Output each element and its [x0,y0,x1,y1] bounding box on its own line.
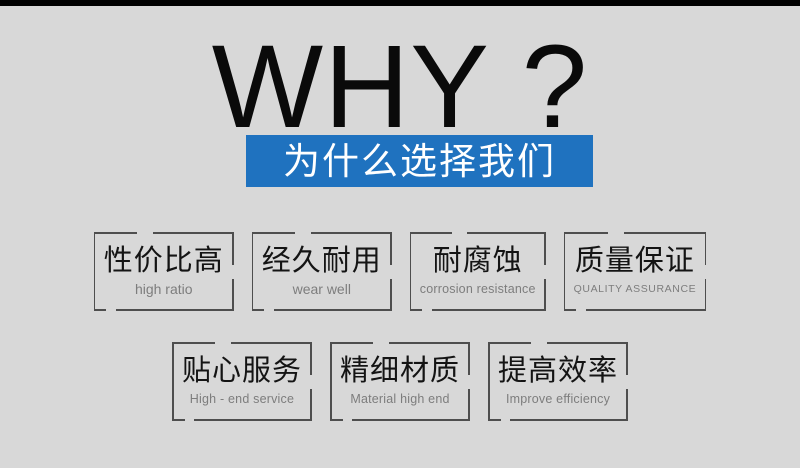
bracket-bottom-segment-b [194,419,312,421]
bracket-right-segment-b [705,279,707,311]
feature-title-cn: 性价比高 [104,244,224,277]
bracket-bottom-segment-a [488,419,501,421]
bracket-top-segment-b [389,342,470,344]
bracket-bottom-segment-b [352,419,470,421]
feature-card: 耐腐蚀 corrosion resistance [410,232,546,311]
feature-card: 经久耐用 wear well [252,232,392,311]
bracket-right-segment-a [705,232,707,265]
feature-title-cn: 贴心服务 [182,354,302,387]
bracket-top-segment-a [564,232,608,234]
bracket-left-segment [488,342,490,421]
bracket-right-segment-a [310,342,312,375]
bracket-left-segment [94,232,96,311]
feature-card: 贴心服务 High - end service [172,342,312,421]
bracket-bottom-segment-a [410,309,422,311]
bracket-bottom-segment-a [252,309,265,311]
bracket-right-segment-a [232,232,234,265]
bracket-right-segment-b [232,279,234,311]
subtitle-banner: 为什么选择我们 [246,135,593,187]
bracket-top-segment-a [488,342,531,344]
bracket-right-segment-a [390,232,392,265]
page-title: WHY ? [0,28,800,146]
feature-title-en: corrosion resistance [420,279,536,299]
bracket-bottom-segment-b [586,309,706,311]
feature-title-en: Material high end [350,389,449,409]
feature-title-en: high ratio [135,279,193,299]
bracket-right-segment-b [390,279,392,311]
bracket-right-segment-a [626,342,628,375]
feature-row-2: 贴心服务 High - end service 精细材质 Material hi… [0,342,800,421]
feature-title-en: Improve efficiency [506,389,610,409]
bracket-bottom-segment-b [116,309,234,311]
bracket-right-segment-a [544,232,546,265]
bracket-bottom-segment-a [172,419,185,421]
bracket-top-segment-a [172,342,215,344]
feature-card: 质量保证 QUALITY ASSURANCE [564,232,707,311]
bracket-right-segment-b [626,389,628,421]
bracket-left-segment [330,342,332,421]
bracket-top-segment-a [410,232,452,234]
feature-title-en: High - end service [190,389,294,409]
bracket-right-segment-b [544,279,546,311]
bracket-bottom-segment-b [510,419,628,421]
bracket-right-segment-b [310,389,312,421]
bracket-bottom-segment-b [432,309,546,311]
feature-row-1: 性价比高 high ratio 经久耐用 wear well 耐腐蚀 corro… [0,232,800,311]
bracket-right-segment-a [468,342,470,375]
bracket-top-segment-a [330,342,373,344]
bracket-top-segment-b [311,232,392,234]
feature-title-en: wear well [293,279,351,299]
bracket-bottom-segment-a [330,419,343,421]
feature-title-en: QUALITY ASSURANCE [574,279,697,299]
bracket-left-segment [252,232,254,311]
bracket-right-segment-b [468,389,470,421]
poster-stage: WHY ? 为什么选择我们 性价比高 high ratio 经久耐用 wear … [0,6,800,468]
bracket-bottom-segment-a [94,309,107,311]
feature-title-cn: 质量保证 [575,244,695,277]
bracket-top-segment-b [547,342,628,344]
bracket-top-segment-b [467,232,546,234]
bracket-left-segment [410,232,412,311]
bracket-left-segment [172,342,174,421]
subtitle-text: 为什么选择我们 [283,143,556,180]
feature-title-cn: 精细材质 [340,354,460,387]
feature-title-cn: 经久耐用 [262,244,382,277]
feature-title-cn: 耐腐蚀 [433,244,523,277]
bracket-bottom-segment-a [564,309,577,311]
feature-card: 提高效率 Improve efficiency [488,342,628,421]
feature-card: 精细材质 Material high end [330,342,470,421]
bracket-top-segment-b [624,232,707,234]
bracket-top-segment-a [252,232,295,234]
bracket-top-segment-b [153,232,234,234]
bracket-bottom-segment-b [274,309,392,311]
bracket-top-segment-a [94,232,137,234]
feature-title-cn: 提高效率 [498,354,618,387]
feature-card: 性价比高 high ratio [94,232,234,311]
bracket-left-segment [564,232,566,311]
bracket-top-segment-b [231,342,312,344]
